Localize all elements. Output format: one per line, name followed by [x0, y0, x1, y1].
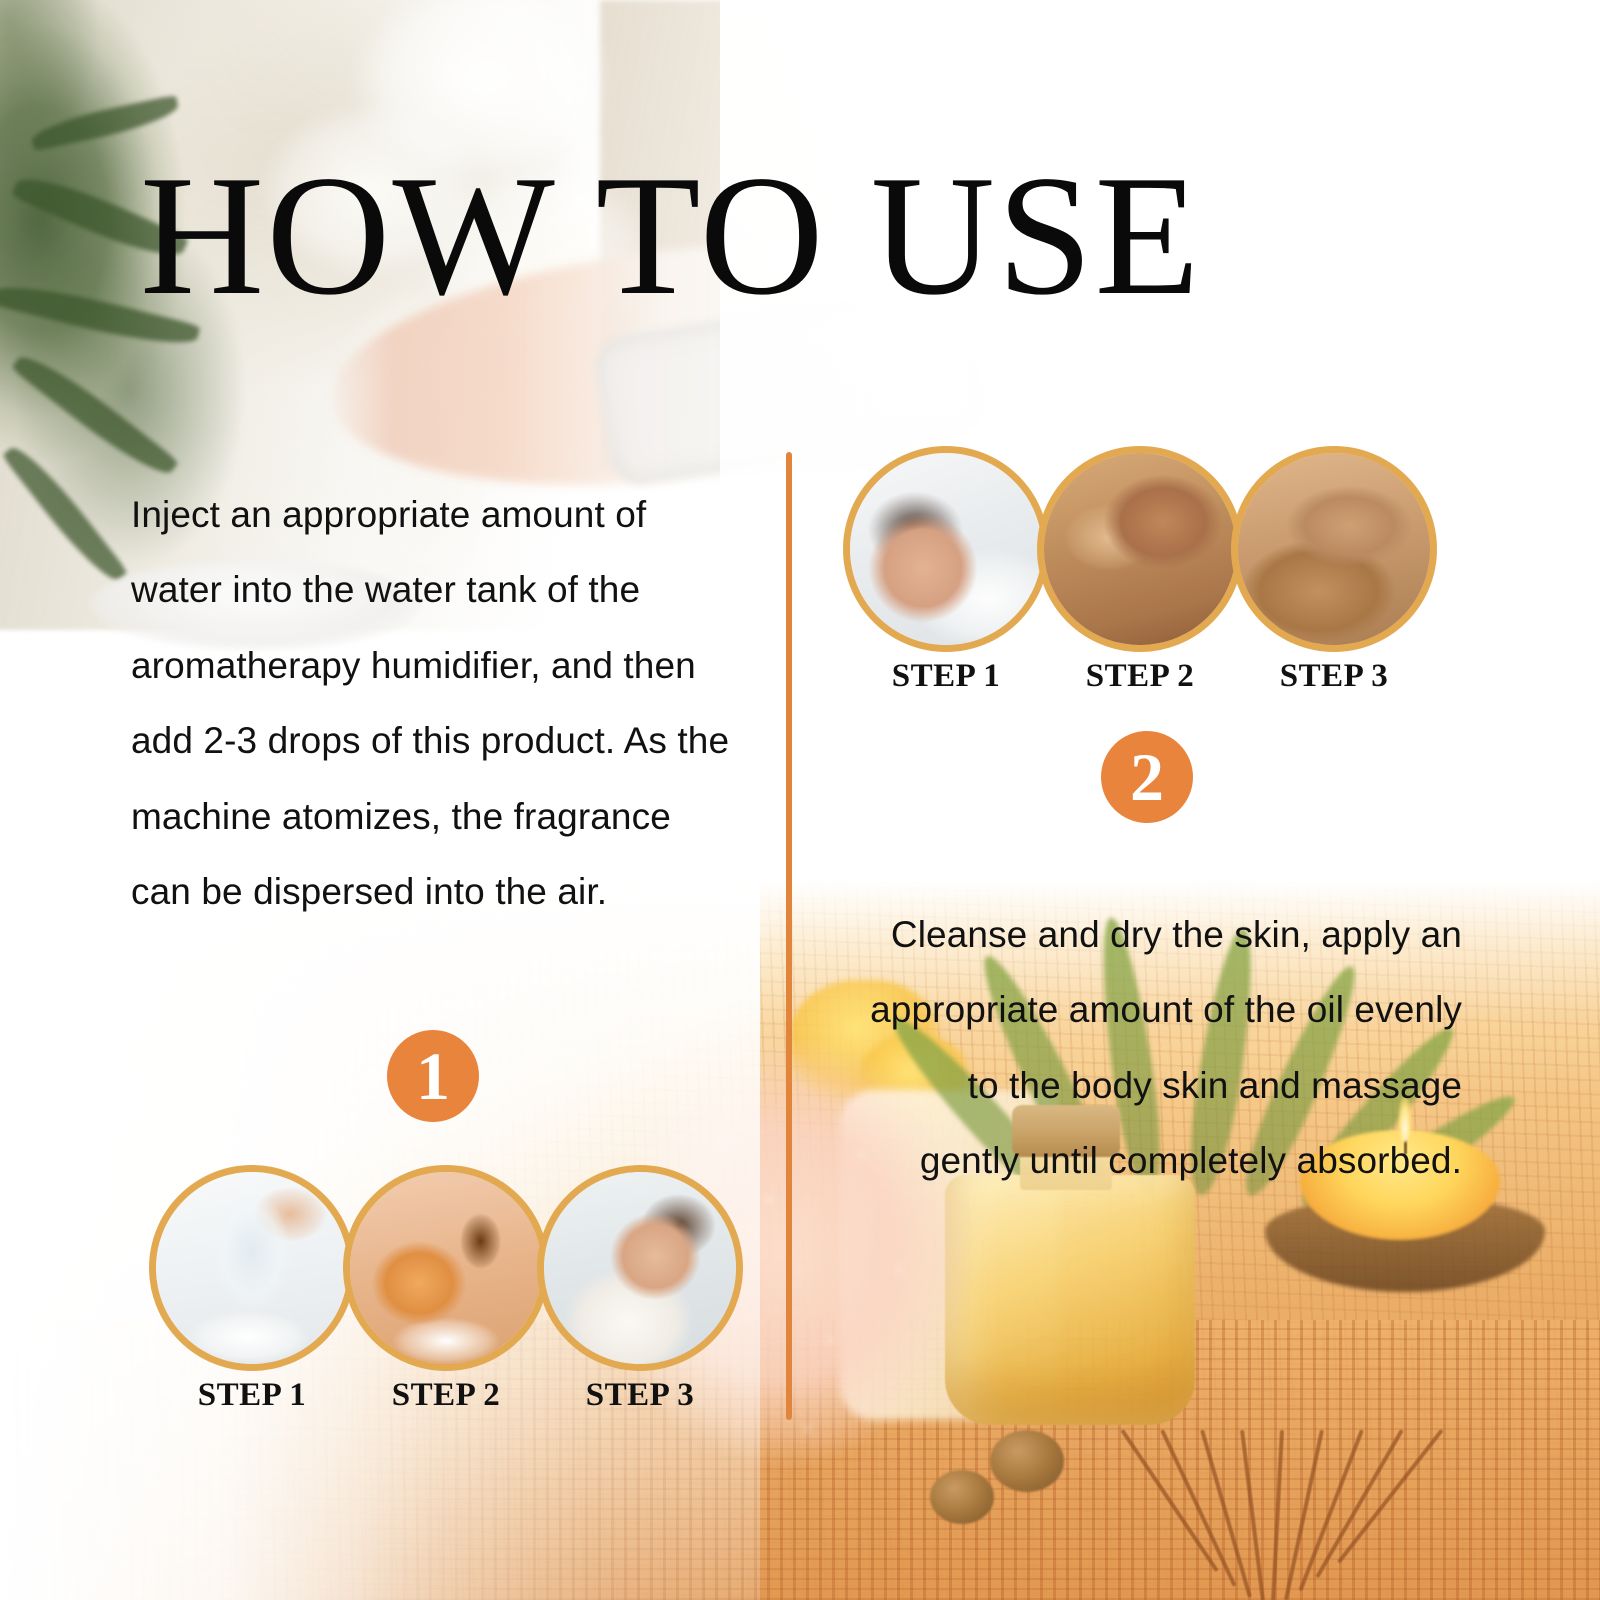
page-title: HOW TO USE [140, 150, 1460, 322]
step-label: STEP 1 [198, 1377, 306, 1414]
woman-in-bath-relaxing-image [850, 453, 1042, 645]
step-image-circle [1037, 446, 1243, 652]
step-image-circle [537, 1165, 743, 1371]
step-image-circle [343, 1165, 549, 1371]
section-1-steps: STEP 1 STEP 2 STEP 3 [144, 1165, 748, 1414]
step-label: STEP 1 [892, 658, 1000, 695]
section-2-steps: STEP 1 STEP 2 STEP 3 [838, 446, 1442, 695]
step-item[interactable]: STEP 1 [838, 446, 1054, 695]
section-1-body: Inject an appropriate amount of water in… [131, 477, 731, 930]
poster-content: HOW TO USE Inject an appropriate amount … [0, 0, 1600, 1600]
step-number-badge-2: 2 [1101, 731, 1193, 823]
step-item[interactable]: STEP 2 [1032, 446, 1248, 695]
woman-relaxing-breathing-aroma-image [544, 1172, 736, 1364]
section-2-body: Cleanse and dry the skin, apply an appro… [862, 897, 1462, 1199]
step-label: STEP 3 [1280, 658, 1388, 695]
step-number-badge-1: 1 [387, 1030, 479, 1122]
step-item[interactable]: STEP 3 [532, 1165, 748, 1414]
step-label: STEP 2 [1086, 658, 1194, 695]
adding-essential-oil-drops-image [350, 1172, 542, 1364]
step-label: STEP 3 [586, 1377, 694, 1414]
hands-massaging-back-image [1238, 453, 1430, 645]
step-image-circle [843, 446, 1049, 652]
step-image-circle [149, 1165, 355, 1371]
step-item[interactable]: STEP 1 [144, 1165, 360, 1414]
step-item[interactable]: STEP 2 [338, 1165, 554, 1414]
pouring-massage-oil-on-back-image [1044, 453, 1236, 645]
step-item[interactable]: STEP 3 [1226, 446, 1442, 695]
pouring-water-into-humidifier-image [156, 1172, 348, 1364]
column-divider [786, 452, 792, 1420]
how-to-use-poster: HOW TO USE Inject an appropriate amount … [0, 0, 1600, 1600]
step-label: STEP 2 [392, 1377, 500, 1414]
step-image-circle [1231, 446, 1437, 652]
